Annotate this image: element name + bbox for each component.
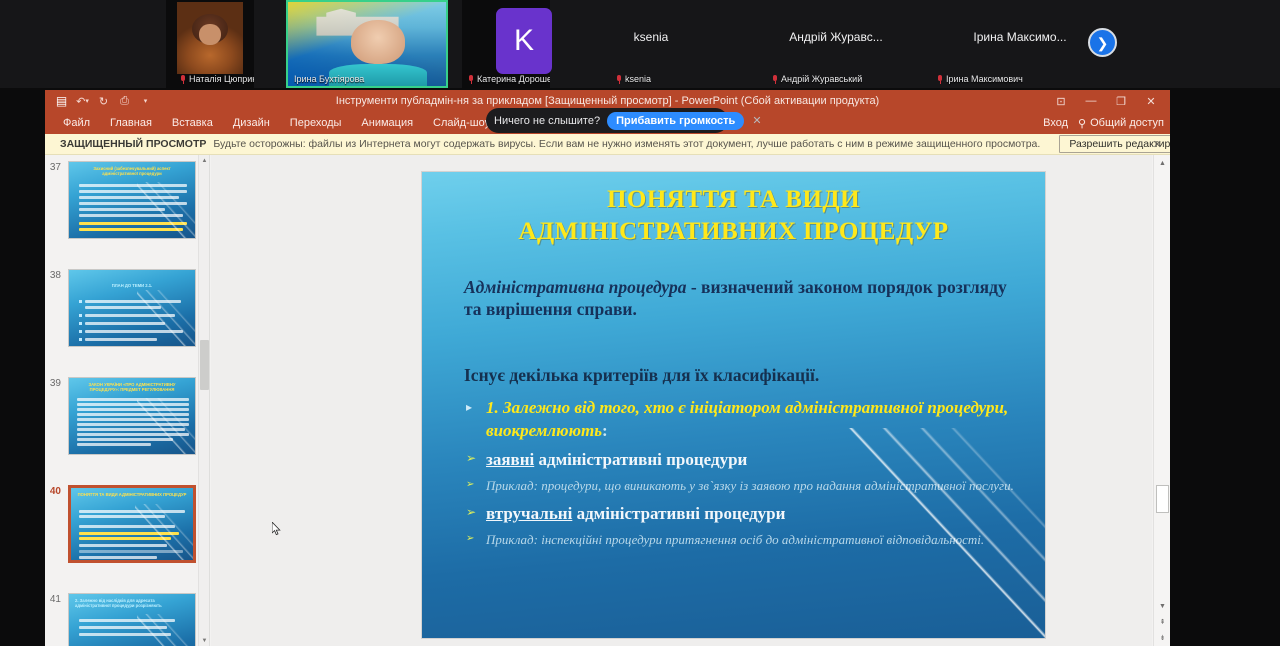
thumbnail-row-39[interactable]: 39 ЗАКОН УКРАЇНИ «ПРО АДМІНІСТРАТИВНУ ПР…: [45, 377, 210, 455]
thumbnail-row-38[interactable]: 38 ПЛАН ДО ТЕМИ 2.1.: [45, 269, 210, 347]
participant-name-ksenia: ksenia: [614, 73, 654, 85]
powerpoint-window: ▤ ↶▾ ↻ ⎙ ▾ Інструменти публадмін-ня за п…: [45, 90, 1170, 646]
mic-muted-icon: [181, 75, 186, 84]
chevron-bullet-icon: ➢: [466, 506, 476, 518]
thumbnail-number: 37: [45, 161, 61, 239]
participant-name-iryna: Ірина Бухтіярова: [291, 73, 367, 85]
start-slideshow-icon[interactable]: ⎙: [115, 92, 134, 110]
undo-icon[interactable]: ↶▾: [73, 92, 92, 110]
close-toast-icon[interactable]: ✕: [752, 114, 761, 127]
participant-name-natalia: Наталія Цюприк: [178, 73, 254, 85]
canvas-scrollbar[interactable]: ▲ ▼ ⇞ ⇟: [1153, 155, 1170, 646]
slide-definition: Адміністративна процедура - визначений з…: [464, 276, 1019, 320]
current-slide[interactable]: ПОНЯТТЯ ТА ВИДИ АДМІНІСТРАТИВНИХ ПРОЦЕДУ…: [422, 172, 1045, 638]
participant-display-ksenia: ksenia: [566, 0, 736, 74]
protected-view-title: ЗАЩИЩЕННЫЙ ПРОСМОТР: [60, 138, 206, 150]
scroll-down-icon[interactable]: ▼: [199, 635, 210, 646]
slide-thumbnail-39[interactable]: ЗАКОН УКРАЇНИ «ПРО АДМІНІСТРАТИВНУ ПРОЦЕ…: [68, 377, 196, 455]
slide-canvas[interactable]: ПОНЯТТЯ ТА ВИДИ АДМІНІСТРАТИВНИХ ПРОЦЕДУ…: [211, 155, 1152, 646]
participant-name-andrii: Андрій Журавський: [770, 73, 865, 85]
scroll-down-icon[interactable]: ▼: [1154, 598, 1170, 614]
thumbnail-number: 38: [45, 269, 61, 347]
bullet-text: Приклад: процедури, що виникають у зв`яз…: [486, 478, 1014, 493]
thumbnails-scroll-thumb[interactable]: [200, 340, 209, 390]
toast-message: Ничего не слышите?: [494, 115, 600, 127]
tab-transitions[interactable]: Переходы: [280, 115, 352, 131]
bullet-text: Приклад: інспекційні процедури притягнен…: [486, 532, 984, 547]
thumbnail-swoosh: [137, 182, 196, 239]
tab-design[interactable]: Дизайн: [223, 115, 280, 131]
zoom-audio-toast: Ничего не слышите? Прибавить громкость ✕: [486, 108, 728, 133]
share-person-icon: ⚲: [1078, 117, 1086, 130]
mic-muted-icon: [773, 75, 778, 84]
participant-video-natalia: [177, 2, 243, 74]
window-title: Інструменти публадмін-ня за прикладом [З…: [45, 95, 1170, 107]
slide-bullet-3: ➢ Приклад: процедури, що виникають у зв`…: [464, 477, 1025, 495]
thumbnails-scrollbar[interactable]: ▲ ▼: [198, 155, 209, 646]
zoom-video-strip: Наталія Цюприк Ірина Бухтіярова Катерина…: [0, 0, 1280, 88]
mic-muted-icon: [617, 75, 622, 84]
slide-criteria-intro: Існує декілька критеріїв для їх класифік…: [464, 365, 1019, 386]
bullet-text: 1. Залежно від того, хто є ініціатором а…: [486, 398, 1008, 440]
participant-label: ksenia: [625, 74, 651, 84]
participant-label: Ірина Бухтіярова: [294, 74, 364, 84]
thumbnail-number: 41: [45, 593, 61, 646]
slide-thumbnails-pane[interactable]: 37 Захисний (забезпечувальний) аспект ад…: [45, 155, 210, 646]
scroll-up-icon[interactable]: ▲: [1154, 155, 1170, 171]
redo-icon[interactable]: ↻: [94, 92, 113, 110]
chevron-bullet-icon: ➢: [466, 534, 474, 544]
tab-insert[interactable]: Вставка: [162, 115, 223, 131]
participant-label: Андрій Журавський: [781, 74, 862, 84]
slide-thumbnail-40[interactable]: ПОНЯТТЯ ТА ВИДИ АДМІНІСТРАТИВНИХ ПРОЦЕДУ…: [68, 485, 196, 563]
canvas-scroll-thumb[interactable]: [1156, 485, 1169, 513]
tab-file[interactable]: Файл: [53, 115, 100, 131]
tab-animations[interactable]: Анимация: [351, 115, 423, 131]
next-slide-icon[interactable]: ⇟: [1154, 630, 1170, 646]
slide-title-line-1: ПОНЯТТЯ ТА ВИДИ: [452, 184, 1015, 216]
participant-label: Ірина Максимович: [946, 74, 1023, 84]
participant-tile-natalia[interactable]: Наталія Цюприк: [166, 0, 254, 88]
protected-view-bar: ЗАЩИЩЕННЫЙ ПРОСМОТР Будьте осторожны: фа…: [45, 134, 1170, 155]
slide-thumbnail-38[interactable]: ПЛАН ДО ТЕМИ 2.1.: [68, 269, 196, 347]
close-button[interactable]: ✕: [1136, 90, 1166, 112]
triangle-bullet-icon: ▸: [466, 401, 472, 413]
protected-view-message: Будьте осторожны: файлы из Интернета мог…: [213, 138, 1040, 150]
thumbnail-swoosh: [137, 398, 196, 455]
thumbnail-swoosh: [137, 290, 196, 347]
share-button[interactable]: ⚲ Общий доступ: [1078, 117, 1164, 130]
restore-button[interactable]: ❐: [1106, 90, 1136, 112]
window-controls: ⊡ — ❐ ✕: [1046, 90, 1166, 112]
next-participants-page-button[interactable]: ❯: [1088, 28, 1117, 57]
thumbnail-row-37[interactable]: 37 Захисний (забезпечувальний) аспект ад…: [45, 161, 210, 239]
slide-title: ПОНЯТТЯ ТА ВИДИ АДМІНІСТРАТИВНИХ ПРОЦЕДУ…: [452, 184, 1015, 248]
tab-home[interactable]: Главная: [100, 115, 162, 131]
share-label: Общий доступ: [1090, 117, 1164, 129]
thumbnail-row-40[interactable]: 40 ПОНЯТТЯ ТА ВИДИ АДМІНІСТРАТИВНИХ ПРОЦ…: [45, 485, 210, 563]
participant-name-iryna-m: Ірина Максимович: [935, 73, 1026, 85]
slide-bullet-1: ▸ 1. Залежно від того, хто є ініціатором…: [464, 397, 1025, 442]
slide-thumbnail-41[interactable]: 2. Залежно від наслідків для адресата ад…: [68, 593, 196, 646]
participant-name-kateryna: Катерина Дорошенко: [466, 73, 550, 85]
bullet-text: адміністративні процедури: [572, 504, 785, 523]
bullet-text: адміністративні процедури: [534, 450, 747, 469]
participant-label: Катерина Дорошенко: [477, 74, 550, 84]
thumbnail-number: 40: [45, 485, 61, 563]
bullet-keyword: втручальні: [486, 504, 572, 523]
thumbnail-title: ПЛАН ДО ТЕМИ 2.1.: [75, 283, 189, 288]
slide-bullet-list: ▸ 1. Залежно від того, хто є ініціатором…: [464, 397, 1025, 552]
chevron-bullet-icon: ➢: [466, 480, 474, 490]
participant-tile-iryna-maksymovych[interactable]: Ірина Максимо... Ірина Максимович: [930, 0, 1110, 88]
slide-bullet-2: ➢ заявні адміністративні процедури: [464, 448, 1025, 471]
bullet-keyword: заявні: [486, 450, 534, 469]
thumbnail-swoosh: [135, 504, 196, 563]
participant-tile-andrii[interactable]: Андрій Журавс... Андрій Журавський: [746, 0, 926, 88]
minimize-button[interactable]: —: [1076, 90, 1106, 112]
ribbon-right-controls: Вход ⚲ Общий доступ: [1043, 112, 1164, 134]
screen-root: Наталія Цюприк Ірина Бухтіярова Катерина…: [0, 0, 1280, 646]
mic-muted-icon: [938, 75, 943, 84]
previous-slide-icon[interactable]: ⇞: [1154, 614, 1170, 630]
ribbon-display-options-icon[interactable]: ⊡: [1046, 90, 1076, 112]
thumbnail-title: ПОНЯТТЯ ТА ВИДИ АДМІНІСТРАТИВНИХ ПРОЦЕДУ…: [77, 492, 187, 497]
person-face: [351, 20, 405, 64]
mic-muted-icon: [469, 75, 474, 84]
slide-thumbnail-37[interactable]: Захисний (забезпечувальний) аспект адмін…: [68, 161, 196, 239]
thumbnail-number: 39: [45, 377, 61, 455]
chevron-right-icon: ❯: [1097, 36, 1109, 50]
sign-in-link[interactable]: Вход: [1043, 117, 1068, 129]
participant-tile-iryna-bukhtiyarova[interactable]: Ірина Бухтіярова: [286, 0, 448, 88]
thumbnail-row-41[interactable]: 41 2. Залежно від наслідків для адресата…: [45, 593, 210, 646]
thumbnail-title: Захисний (забезпечувальний) аспект адмін…: [75, 166, 189, 177]
bullet-tail: :: [602, 421, 608, 440]
scroll-up-icon[interactable]: ▲: [199, 155, 210, 166]
save-icon[interactable]: ▤: [52, 92, 71, 110]
increase-volume-button[interactable]: Прибавить громкость: [607, 112, 744, 130]
slide-title-line-2: АДМІНІСТРАТИВНИХ ПРОЦЕДУР: [452, 216, 1015, 248]
slide-bullet-4: ➢ втручальні адміністративні процедури: [464, 502, 1025, 525]
chevron-bullet-icon: ➢: [466, 452, 476, 464]
thumbnail-swoosh: [137, 614, 196, 646]
customize-qat-icon[interactable]: ▾: [136, 92, 155, 110]
powerpoint-body: 37 Захисний (забезпечувальний) аспект ад…: [45, 155, 1170, 646]
participant-display-iryna-m: Ірина Максимо...: [930, 0, 1110, 74]
close-protected-bar-icon[interactable]: ✕: [1153, 138, 1162, 151]
participant-display-andrii: Андрій Журавс...: [746, 0, 926, 74]
thumbnail-title: 2. Залежно від наслідків для адресата ад…: [75, 598, 189, 609]
quick-access-toolbar: ▤ ↶▾ ↻ ⎙ ▾: [45, 92, 155, 110]
avatar-kateryna: K: [496, 8, 552, 74]
participant-label: Наталія Цюприк: [189, 74, 254, 84]
thumbnail-title: ЗАКОН УКРАЇНИ «ПРО АДМІНІСТРАТИВНУ ПРОЦЕ…: [75, 382, 189, 393]
definition-term: Адміністративна процедура: [464, 277, 686, 297]
participant-tile-ksenia[interactable]: ksenia ksenia: [566, 0, 736, 88]
slide-bullet-5: ➢ Приклад: інспекційні процедури притягн…: [464, 531, 1025, 549]
